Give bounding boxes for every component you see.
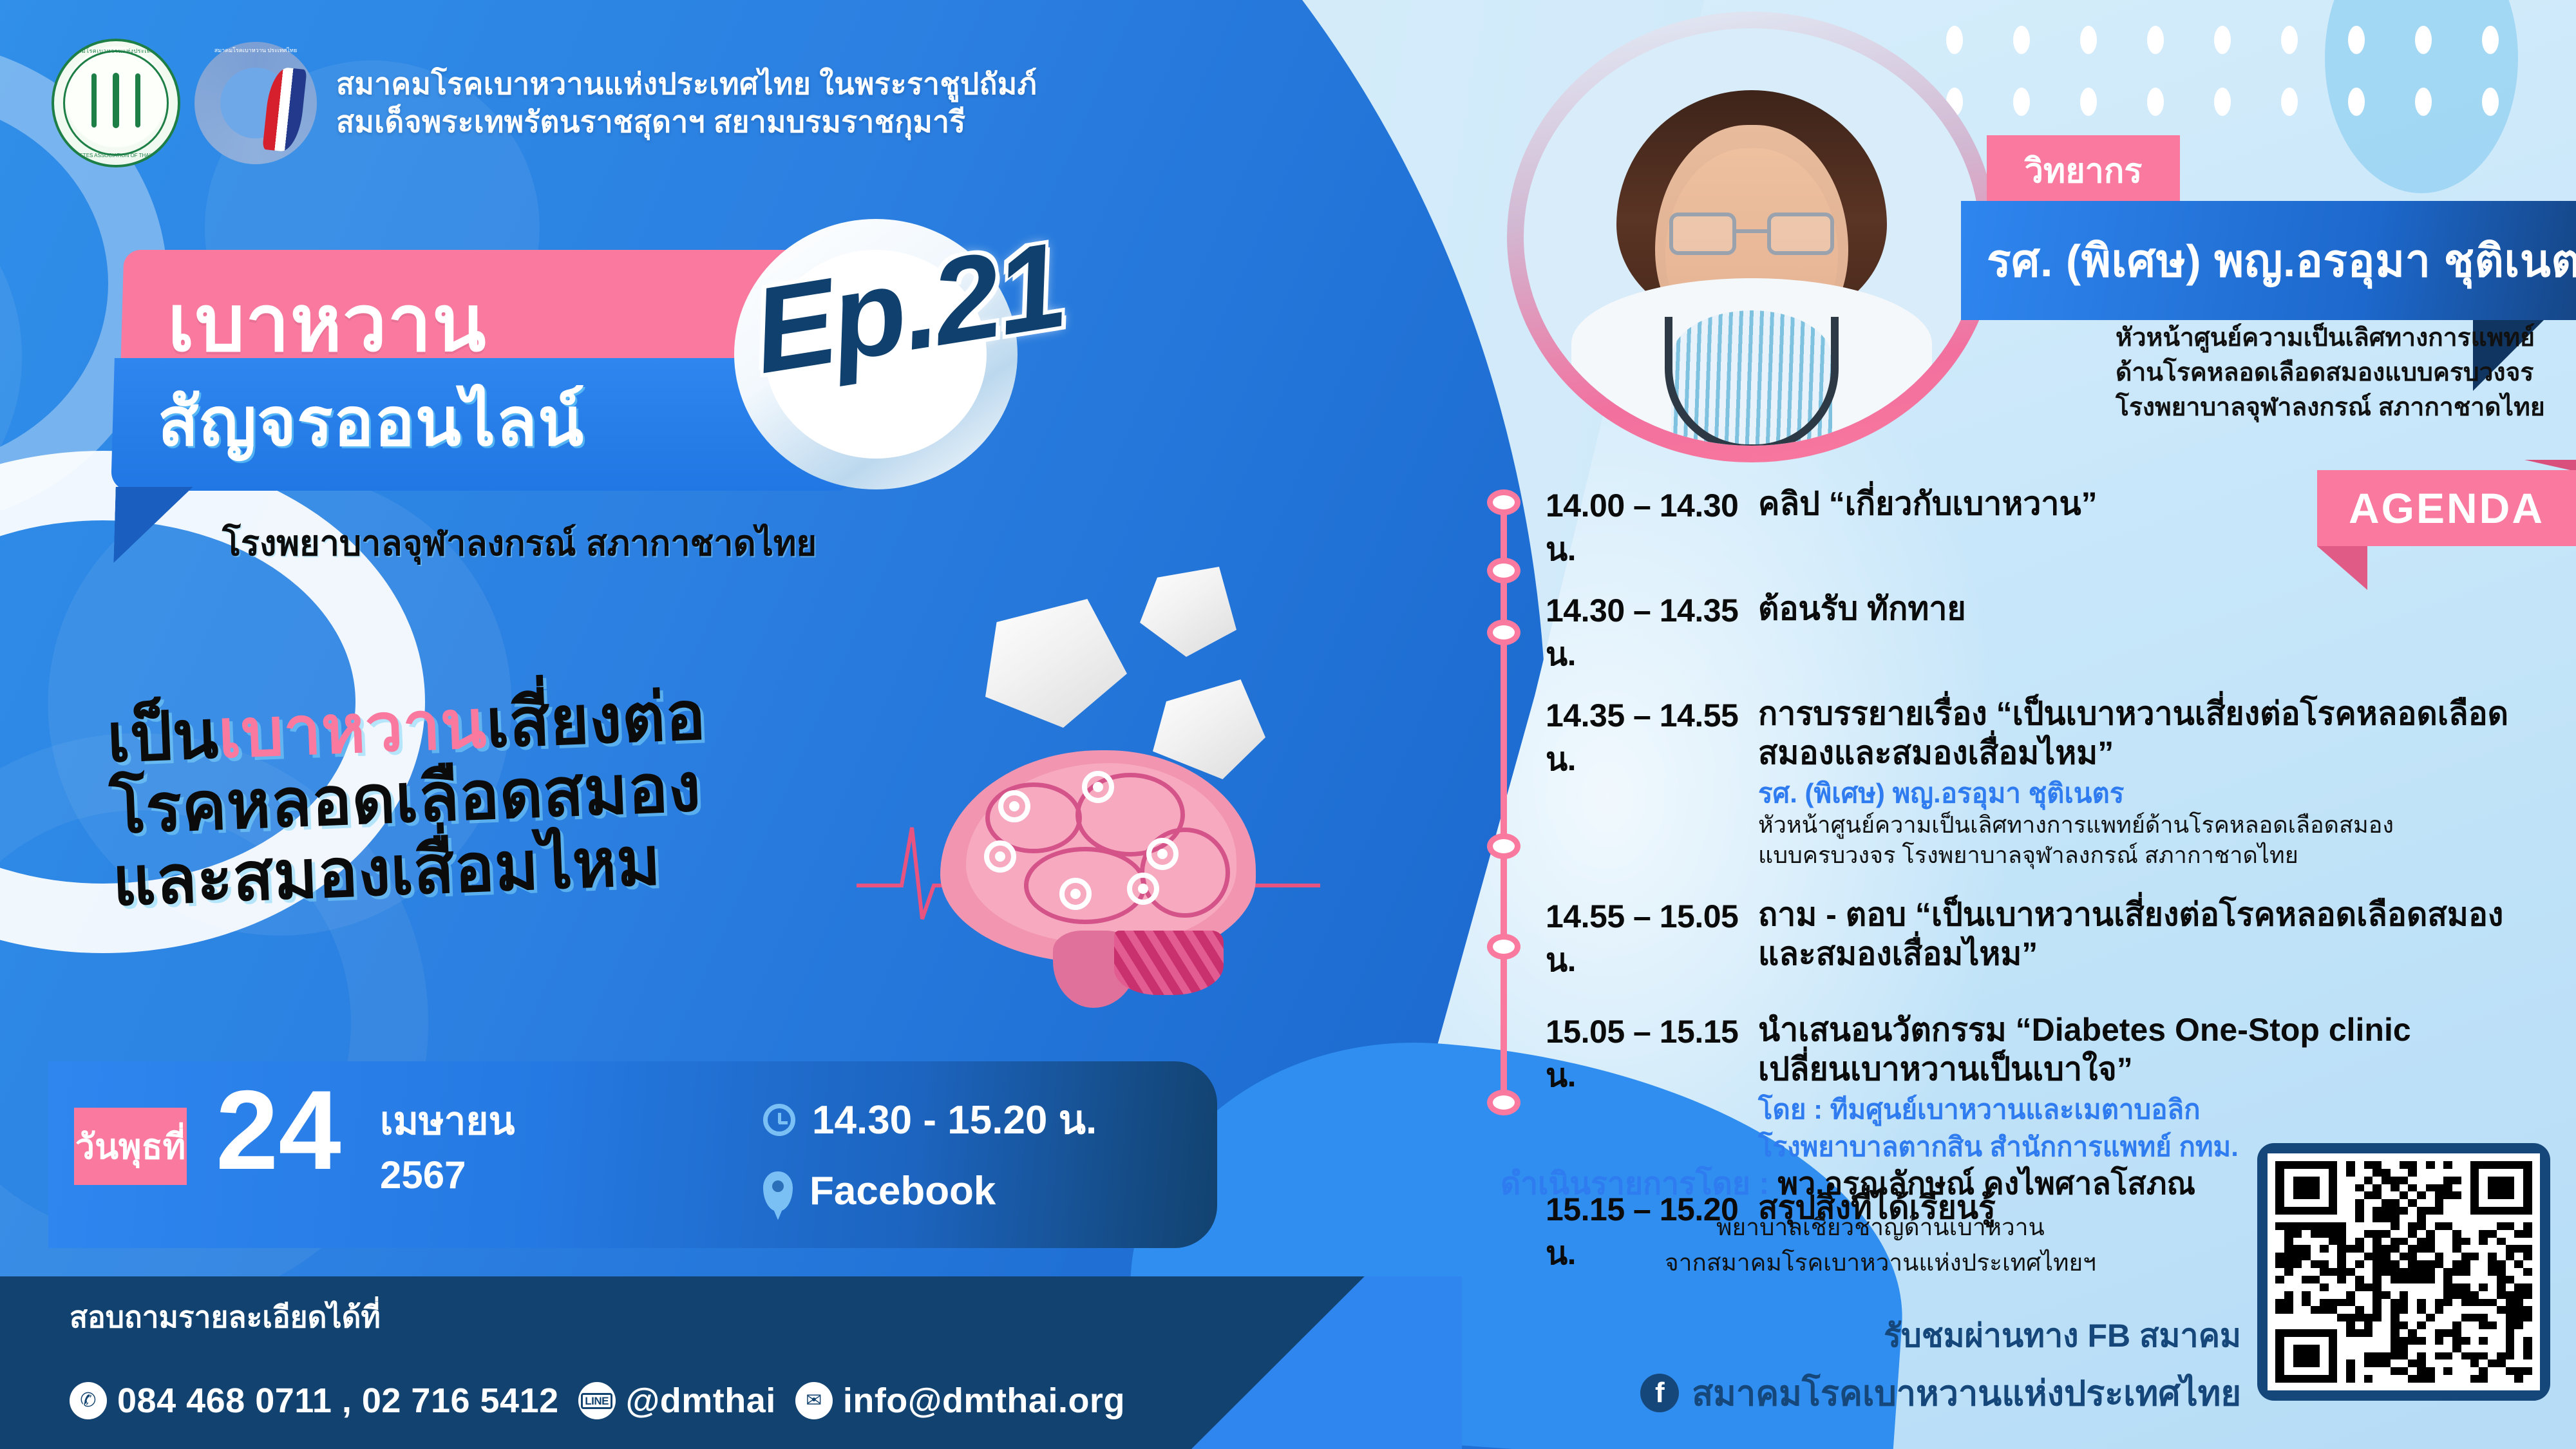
qr-code-modules	[2275, 1161, 2532, 1383]
moderator-label: ดำเนินรายการโดย :	[1501, 1167, 1778, 1201]
speaker-photo-frame	[1507, 12, 1996, 462]
timeline-node-3	[1487, 620, 1520, 645]
watch-line-2-row[interactable]: f สมาคมโรคเบาหวานแห่งประเทศไทย	[1597, 1365, 2241, 1421]
agenda-item: 14.55 – 15.05 น. ถาม - ตอบ “เป็นเบาหวานเ…	[1546, 895, 2512, 986]
agenda-time: 14.35 – 14.55 น.	[1546, 694, 1758, 871]
phone-icon: ✆	[70, 1382, 107, 1419]
email-address: info@dmthai.org	[843, 1381, 1125, 1421]
year-label: 2567	[380, 1153, 466, 1197]
agenda-body: คลิป “เกี่ยวกับเบาหวาน”	[1758, 484, 2512, 575]
line-icon: LINE	[578, 1382, 616, 1419]
timeline-node-1	[1487, 489, 1520, 515]
moderator-detail-1: พยาบาลเชี่ยวชาญด้านเบาหวาน	[1501, 1212, 2260, 1244]
speaker-role-line-1: หัวหน้าศูนย์ความเป็นเลิศทางการแพทย์	[2116, 321, 2576, 355]
brain-marker-2	[1082, 771, 1114, 803]
mail-icon: ✉	[795, 1382, 833, 1419]
watch-block: รับชมผ่านทาง FB สมาคม f สมาคมโรคเบาหวานแ…	[1597, 1311, 2241, 1421]
association-ring-logo: สมาคมโรคเบาหวาน ประเทศไทย	[194, 42, 317, 164]
agenda-speaker: โดย : ทีมศูนย์เบาหวานและเมตาบอลิก	[1758, 1093, 2512, 1126]
organization-line-2: สมเด็จพระเทพรัตนราชสุดาฯ สยามบรมราชกุมาร…	[336, 103, 1037, 141]
headline-seg-c: เสี่ยงต่อ	[485, 679, 707, 762]
agenda-title: ต้อนรับ ทักทาย	[1758, 589, 2512, 629]
event-time-row: 14.30 - 15.20 น.	[763, 1088, 1097, 1151]
episode-badge: Ep.21	[715, 213, 1075, 489]
agenda-detail-1: หัวหน้าศูนย์ความเป็นเลิศทางการแพทย์ด้านโ…	[1758, 810, 2512, 840]
speaker-role-line-3: โรงพยาบาลจุฬาลงกรณ์ สภากาชาดไทย	[2116, 390, 2576, 425]
agenda-title: คลิป “เกี่ยวกับเบาหวาน”	[1758, 484, 2512, 524]
moderator-name: พว.อรุณลักษณ์ คงไพศาลโสภณ	[1778, 1167, 2195, 1201]
qr-code-inner	[2268, 1153, 2540, 1390]
brain-illustration	[927, 744, 1269, 1014]
agenda-item: 14.35 – 14.55 น. การบรรยายเรื่อง “เป็นเบ…	[1546, 694, 2512, 871]
agenda-title: ถาม - ตอบ “เป็นเบาหวานเสี่ยงต่อโรคหลอดเล…	[1758, 895, 2512, 974]
timeline-node-4	[1487, 833, 1520, 859]
phone-number: 084 468 0711 , 02 716 5412	[117, 1381, 559, 1421]
event-platform-row: Facebook	[763, 1168, 1097, 1214]
seal-top-text: สมาคมโรคเบาหวานแห่งประเทศไทย	[54, 46, 178, 55]
moderator-detail-2: จากสมาคมโรคเบาหวานแห่งประเทศไทยฯ	[1501, 1247, 2260, 1279]
agenda-time: 15.05 – 15.15 น.	[1546, 1010, 1758, 1164]
webinar-poster: สมาคมโรคเบาหวานแห่งประเทศไทย DIABETES AS…	[0, 0, 2576, 1449]
stethoscope-icon	[1665, 317, 1839, 446]
speaker-name-box: รศ. (พิเศษ) พญ.อรอุมา ชุติเนตร	[1961, 201, 2576, 320]
seal-bottom-text: DIABETES ASSOCIATION OF THAILAND	[54, 153, 178, 158]
portrait-glasses	[1669, 213, 1834, 255]
contact-phone[interactable]: ✆ 084 468 0711 , 02 716 5412	[70, 1381, 559, 1421]
moderator-line: ดำเนินรายการโดย : พว.อรุณลักษณ์ คงไพศาลโ…	[1501, 1159, 2260, 1208]
clock-icon	[763, 1104, 795, 1136]
event-platform: Facebook	[810, 1168, 996, 1214]
ring-logo-label: สมาคมโรคเบาหวาน ประเทศไทย	[194, 46, 317, 55]
headline-seg-highlight: เบาหวาน	[217, 687, 488, 772]
brain-cerebellum	[1114, 931, 1224, 995]
weekday-chip: วันพุธที่	[74, 1108, 187, 1185]
speaker-badge: วิทยากร	[1987, 135, 2180, 205]
moderator-block: ดำเนินรายการโดย : พว.อรุณลักษณ์ คงไพศาลโ…	[1501, 1159, 2260, 1279]
event-meta: 14.30 - 15.20 น. Facebook	[763, 1088, 1097, 1231]
contact-line[interactable]: LINE @dmthai	[578, 1381, 776, 1421]
day-number: 24	[216, 1074, 341, 1187]
agenda-item: 15.05 – 15.15 น. นำเสนอนวัตกรรม “Diabete…	[1546, 1010, 2512, 1164]
decor-dot-pattern	[1946, 26, 2499, 116]
facebook-icon: f	[1640, 1374, 1679, 1412]
contact-row: ✆ 084 468 0711 , 02 716 5412 LINE @dmtha…	[70, 1381, 1125, 1421]
agenda-body: นำเสนอนวัตกรรม “Diabetes One-Stop clinic…	[1758, 1010, 2512, 1164]
speaker-name: รศ. (พิเศษ) พญ.อรอุมา ชุติเนตร	[1987, 225, 2576, 296]
agenda-timeline-line	[1501, 497, 1507, 1103]
agenda-time: 14.30 – 14.35 น.	[1546, 589, 1758, 680]
contact-email[interactable]: ✉ info@dmthai.org	[795, 1381, 1125, 1421]
agenda-detail-2: แบบครบวงจร โรงพยาบาลจุฬาลงกรณ์ สภากาชาดไ…	[1758, 840, 2512, 871]
agenda-body: ถาม - ตอบ “เป็นเบาหวานเสี่ยงต่อโรคหลอดเล…	[1758, 895, 2512, 986]
watch-line-1: รับชมผ่านทาง FB สมาคม	[1597, 1311, 2241, 1361]
agenda-time: 14.00 – 14.30 น.	[1546, 484, 1758, 575]
location-pin-icon	[763, 1171, 793, 1211]
brain-marker-3	[984, 840, 1016, 873]
contact-heading: สอบถามรายละเอียดได้ที่	[70, 1294, 381, 1341]
title-subtitle: โรงพยาบาลจุฬาลงกรณ์ สภากาชาดไทย	[222, 515, 817, 571]
association-seal-logo: สมาคมโรคเบาหวานแห่งประเทศไทย DIABETES AS…	[52, 39, 180, 167]
brain-marker-5	[1059, 878, 1092, 910]
speaker-role: หัวหน้าศูนย์ความเป็นเลิศทางการแพทย์ ด้าน…	[2116, 321, 2576, 424]
timeline-node-6	[1487, 1090, 1520, 1115]
episode-label: Ep.21	[732, 213, 1084, 403]
event-time: 14.30 - 15.20 น.	[812, 1088, 1097, 1151]
brain-marker-4	[1146, 838, 1179, 870]
agenda-item: 14.30 – 14.35 น. ต้อนรับ ทักทาย	[1546, 589, 2512, 680]
timeline-node-5	[1487, 934, 1520, 960]
agenda-body: ต้อนรับ ทักทาย	[1758, 589, 2512, 680]
agenda-time: 14.55 – 15.05 น.	[1546, 895, 1758, 986]
month-label: เมษายน	[380, 1090, 515, 1151]
organization-name: สมาคมโรคเบาหวานแห่งประเทศไทย ในพระราชูปถ…	[336, 65, 1037, 141]
header-logos: สมาคมโรคเบาหวานแห่งประเทศไทย DIABETES AS…	[52, 39, 1037, 167]
agenda-title: นำเสนอนวัตกรรม “Diabetes One-Stop clinic…	[1758, 1010, 2512, 1089]
watch-page-name: สมาคมโรคเบาหวานแห่งประเทศไทย	[1692, 1365, 2241, 1421]
headline-seg-a: เป็น	[106, 697, 220, 777]
timeline-node-2	[1487, 558, 1520, 583]
qr-code[interactable]	[2257, 1143, 2550, 1401]
agenda-body: การบรรยายเรื่อง “เป็นเบาหวานเสี่ยงต่อโรค…	[1758, 694, 2512, 871]
brain-marker-1	[998, 790, 1030, 822]
agenda-item: 14.00 – 14.30 น. คลิป “เกี่ยวกับเบาหวาน”	[1546, 484, 2512, 575]
agenda-speaker: รศ. (พิเศษ) พญ.อรอุมา ชุติเนตร	[1758, 777, 2512, 810]
speaker-portrait	[1524, 28, 1980, 446]
agenda-title: การบรรยายเรื่อง “เป็นเบาหวานเสี่ยงต่อโรค…	[1758, 694, 2512, 773]
organization-line-1: สมาคมโรคเบาหวานแห่งประเทศไทย ในพระราชูปถ…	[336, 65, 1037, 103]
speaker-role-line-2: ด้านโรคหลอดเลือดสมองแบบครบวงจร	[2116, 355, 2576, 390]
brain-marker-6	[1127, 873, 1159, 905]
line-id: @dmthai	[626, 1381, 776, 1421]
